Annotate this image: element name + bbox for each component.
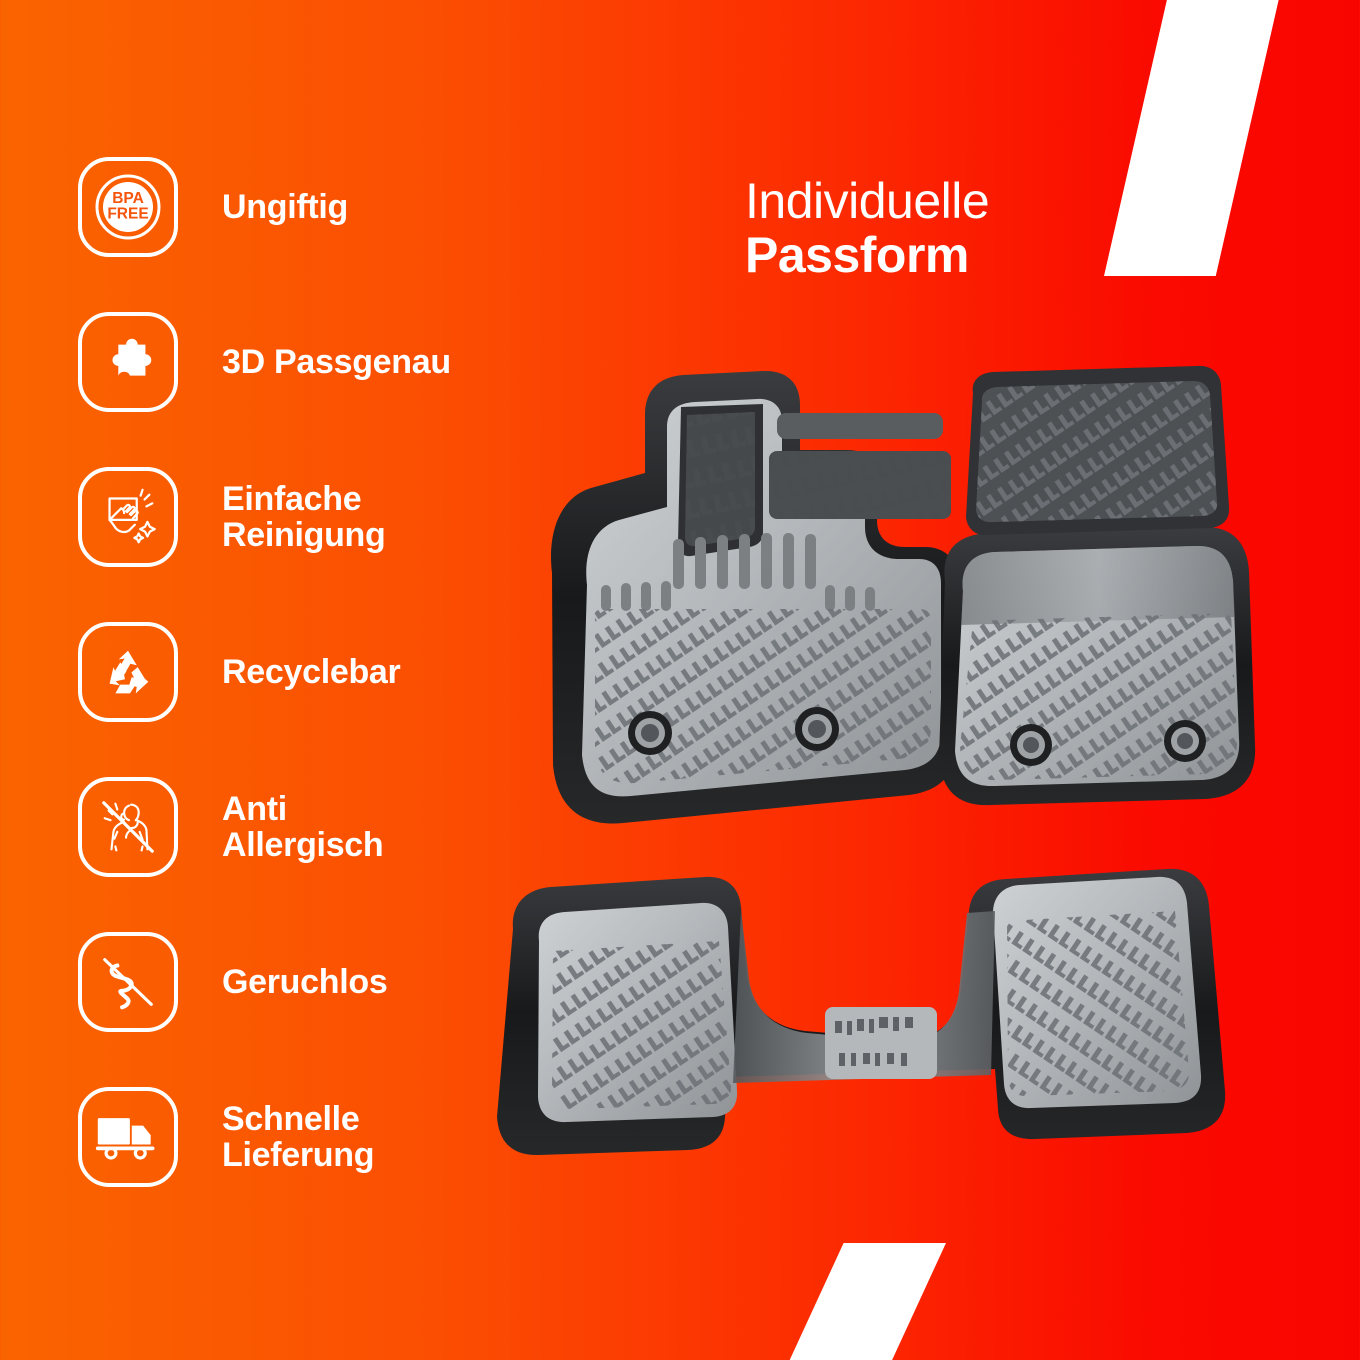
feature-row-geruchlos: Geruchlos	[78, 932, 548, 1032]
feature-row-recyclebar: Recyclebar	[78, 622, 548, 722]
feature-row-ungiftig: BPA FREE Ungiftig	[78, 157, 548, 257]
feature-label-3d-passgenau: 3D Passgenau	[222, 344, 451, 380]
bpa-free-icon: BPA FREE	[78, 157, 178, 257]
puzzle-piece-icon	[78, 312, 178, 412]
no-odor-icon	[78, 932, 178, 1032]
feature-label-ungiftig: Ungiftig	[222, 189, 348, 225]
feature-list: BPA FREE Ungiftig 3D Passgenau	[78, 157, 548, 1242]
bpa-badge-line-1: BPA	[112, 190, 144, 207]
feature-label-geruchlos: Geruchlos	[222, 964, 387, 1000]
headline-line-1: Individuelle	[745, 174, 989, 228]
feature-label-recyclebar: Recyclebar	[222, 654, 400, 690]
driver-front-mat	[551, 371, 957, 824]
recycle-icon	[78, 622, 178, 722]
feature-row-anti-allergisch: Anti Allergisch	[78, 777, 548, 877]
feature-row-3d-passgenau: 3D Passgenau	[78, 312, 548, 412]
rear-bench-mat	[497, 869, 1225, 1155]
decorative-slash-top	[1104, 0, 1280, 276]
decorative-slash-bottom	[786, 1243, 946, 1360]
feature-row-schnelle-lieferung: Schnelle Lieferung	[78, 1087, 548, 1187]
delivery-truck-icon	[78, 1087, 178, 1187]
feature-label-anti-allergisch: Anti Allergisch	[222, 791, 383, 864]
cleaning-hand-icon	[78, 467, 178, 567]
bpa-badge-line-2: FREE	[107, 206, 148, 223]
headline-line-2: Passform	[745, 228, 989, 283]
product-image-car-floor-mats	[495, 355, 1285, 1160]
feature-row-einfache-reinigung: Einfache Reinigung	[78, 467, 548, 567]
headline-block: Individuelle Passform	[745, 174, 989, 283]
no-allergy-icon	[78, 777, 178, 877]
feature-label-einfache-reinigung: Einfache Reinigung	[222, 481, 386, 554]
feature-label-schnelle-lieferung: Schnelle Lieferung	[222, 1101, 374, 1174]
passenger-front-mat	[939, 366, 1255, 805]
